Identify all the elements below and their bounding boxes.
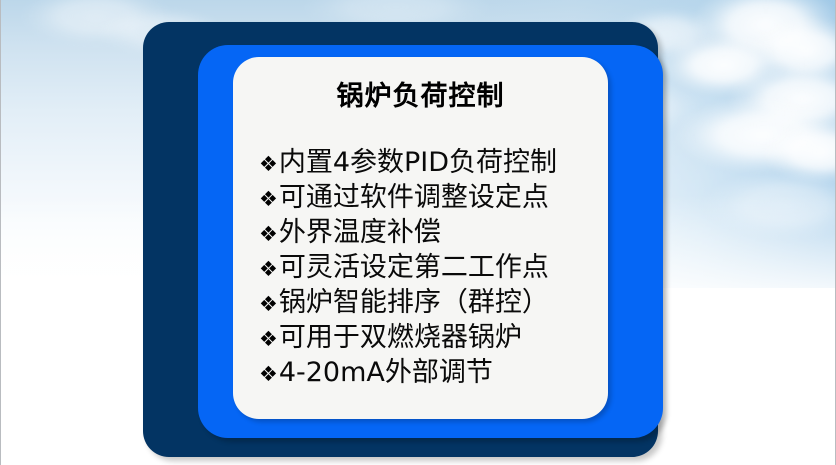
diamond-bullet-icon: ❖ — [259, 217, 278, 252]
list-item-label: 锅炉智能排序（群控） — [279, 285, 549, 320]
diamond-bullet-icon: ❖ — [259, 322, 278, 357]
diamond-bullet-icon: ❖ — [259, 147, 278, 182]
outer-navy-frame: 锅炉负荷控制 ❖ 内置4参数PID负荷控制 ❖ 可通过软件调整设定点 ❖ 外界温… — [143, 22, 658, 457]
middle-blue-frame: 锅炉负荷控制 ❖ 内置4参数PID负荷控制 ❖ 可通过软件调整设定点 ❖ 外界温… — [198, 45, 663, 438]
diamond-bullet-icon: ❖ — [259, 252, 278, 287]
list-item-label: 可灵活设定第二工作点 — [279, 250, 549, 285]
card-title: 锅炉负荷控制 — [233, 83, 608, 110]
list-item-label: 可通过软件调整设定点 — [279, 180, 549, 215]
diamond-bullet-icon: ❖ — [259, 287, 278, 322]
list-item-label: 4-20mA外部调节 — [279, 355, 493, 390]
inner-content-panel: 锅炉负荷控制 ❖ 内置4参数PID负荷控制 ❖ 可通过软件调整设定点 ❖ 外界温… — [233, 57, 608, 419]
list-item: ❖ 锅炉智能排序（群控） — [259, 285, 589, 320]
list-item: ❖ 可灵活设定第二工作点 — [259, 250, 589, 285]
diamond-bullet-icon: ❖ — [259, 357, 278, 392]
list-item: ❖ 4-20mA外部调节 — [259, 355, 589, 390]
list-item: ❖ 外界温度补偿 — [259, 215, 589, 250]
list-item-label: 内置4参数PID负荷控制 — [279, 145, 557, 180]
presentation-slide: 锅炉负荷控制 ❖ 内置4参数PID负荷控制 ❖ 可通过软件调整设定点 ❖ 外界温… — [0, 0, 836, 465]
list-item: ❖ 可用于双燃烧器锅炉 — [259, 320, 589, 355]
list-item-label: 外界温度补偿 — [279, 215, 441, 250]
feature-bullet-list: ❖ 内置4参数PID负荷控制 ❖ 可通过软件调整设定点 ❖ 外界温度补偿 ❖ 可… — [259, 145, 589, 390]
diamond-bullet-icon: ❖ — [259, 182, 278, 217]
list-item: ❖ 内置4参数PID负荷控制 — [259, 145, 589, 180]
list-item: ❖ 可通过软件调整设定点 — [259, 180, 589, 215]
list-item-label: 可用于双燃烧器锅炉 — [279, 320, 522, 355]
